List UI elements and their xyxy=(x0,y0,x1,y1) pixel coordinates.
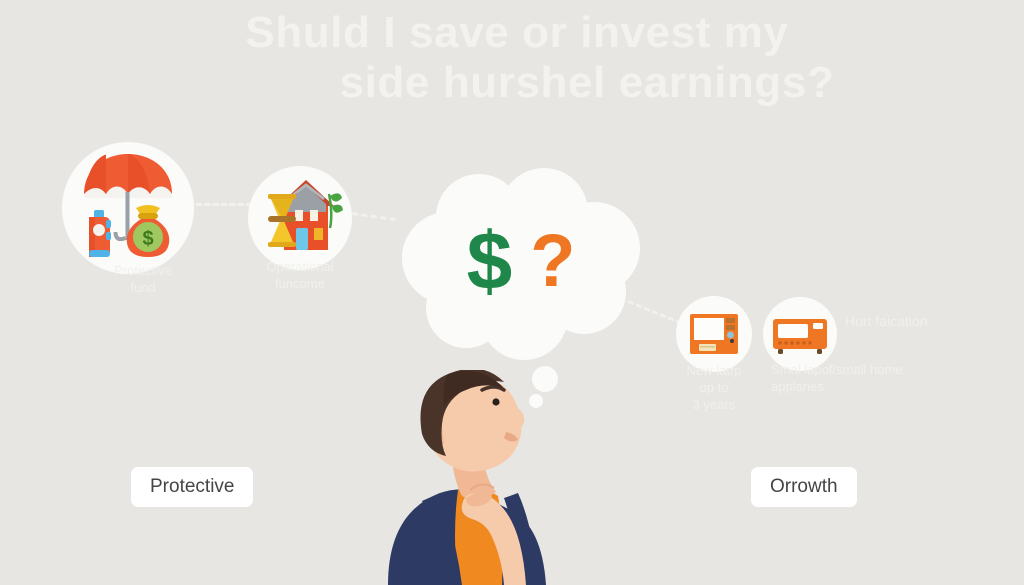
thought-bubble-symbols: $ ? xyxy=(396,168,646,364)
connector-dashed-line-2 xyxy=(352,212,396,221)
umbrella-money-bag-icon: $ xyxy=(62,142,194,274)
dollar-sign-icon: $ xyxy=(467,221,513,303)
node-new-laptop: New latrp up to 3 years xyxy=(676,296,752,372)
new-laptop-label: New latrp up to 3 years xyxy=(662,362,766,413)
operational-funcome-label: Operational funcome xyxy=(242,258,358,292)
microwave-appliance-icon xyxy=(763,297,837,371)
illustration-canvas: Shuld I save or invest my side hurshel e… xyxy=(0,0,1024,585)
operational-funcome-circle xyxy=(248,166,352,270)
node-small-appliance: Smal lapof/small home applanes xyxy=(763,297,837,371)
question-mark-icon: ? xyxy=(530,224,575,298)
protective-fund-label: Protective fund xyxy=(88,262,198,296)
hort-faication-label: Hort faication xyxy=(845,313,927,329)
laptop-monitor-icon xyxy=(676,296,752,372)
thinking-man-illustration xyxy=(330,370,660,585)
pill-protective[interactable]: Protective xyxy=(131,467,253,507)
node-protective-fund: $ Protective fund xyxy=(62,142,194,274)
small-appliance-label: Smal lapof/small home applanes xyxy=(771,361,941,395)
thought-bubble: $ ? xyxy=(396,168,646,364)
small-appliance-circle xyxy=(763,297,837,371)
connector-dashed-line-1 xyxy=(196,203,252,206)
title-line-2: side hurshel earnings? xyxy=(0,58,1024,108)
svg-text:$: $ xyxy=(142,228,153,250)
page-title: Shuld I save or invest my side hurshel e… xyxy=(0,8,1024,108)
house-hourglass-icon xyxy=(248,166,352,270)
protective-fund-circle: $ xyxy=(62,142,194,274)
new-laptop-circle xyxy=(676,296,752,372)
pill-growth[interactable]: Orrowth xyxy=(751,467,857,507)
node-operational-funcome: Operational funcome xyxy=(248,166,352,270)
title-line-1: Shuld I save or invest my xyxy=(0,8,1024,58)
